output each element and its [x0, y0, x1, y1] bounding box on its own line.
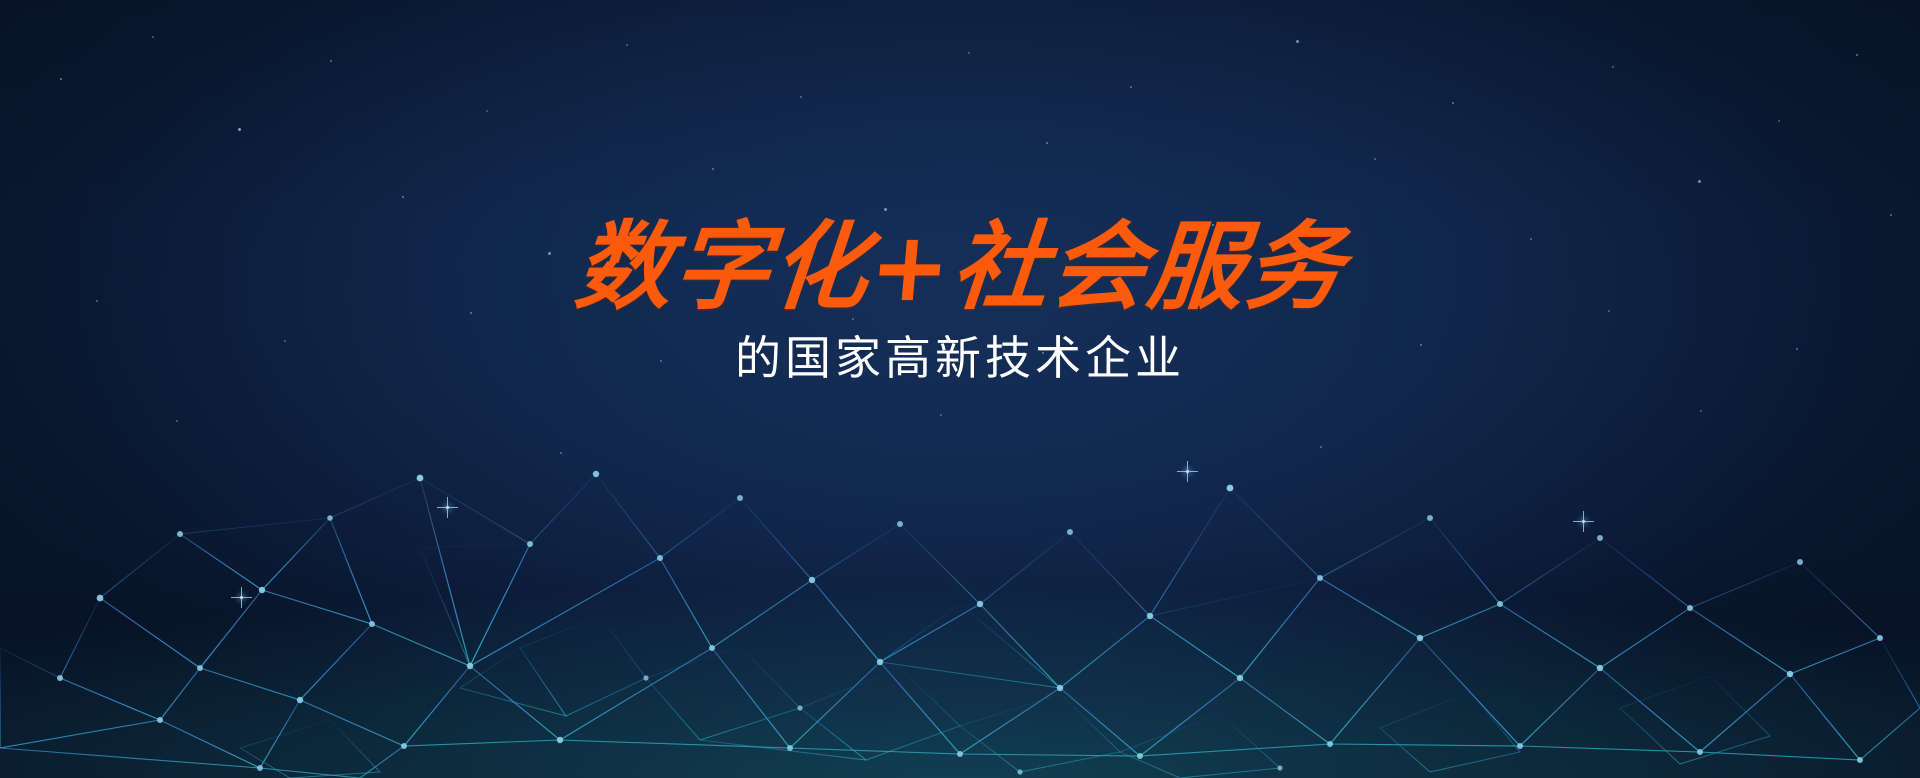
star-particle — [626, 44, 628, 46]
hero-copy: 数字化+社会服务 的国家高新技术企业 — [0, 218, 1920, 387]
star-particle — [1698, 180, 1701, 183]
hero-headline: 数字化+社会服务 — [0, 218, 1920, 318]
star-particle — [1130, 86, 1132, 88]
hero-banner: 数字化+社会服务 的国家高新技术企业 — [0, 0, 1920, 778]
star-particle — [152, 36, 154, 38]
star-particle — [968, 52, 970, 54]
star-particle — [330, 60, 332, 62]
star-particle — [1452, 102, 1454, 104]
star-particle — [1778, 120, 1780, 122]
star-particle — [1046, 142, 1048, 144]
star-particle — [1890, 214, 1892, 216]
network-mesh-graphic — [0, 348, 1920, 778]
star-particle — [60, 78, 62, 80]
hero-subheadline: 的国家高新技术企业 — [0, 330, 1920, 388]
star-particle — [1856, 54, 1858, 56]
star-particle — [712, 168, 714, 170]
star-particle — [1296, 40, 1299, 43]
star-particle — [238, 128, 241, 131]
star-particle — [486, 110, 488, 112]
star-particle — [800, 96, 802, 98]
star-particle — [1612, 66, 1614, 68]
star-particle — [402, 196, 404, 198]
star-particle — [1374, 158, 1376, 160]
